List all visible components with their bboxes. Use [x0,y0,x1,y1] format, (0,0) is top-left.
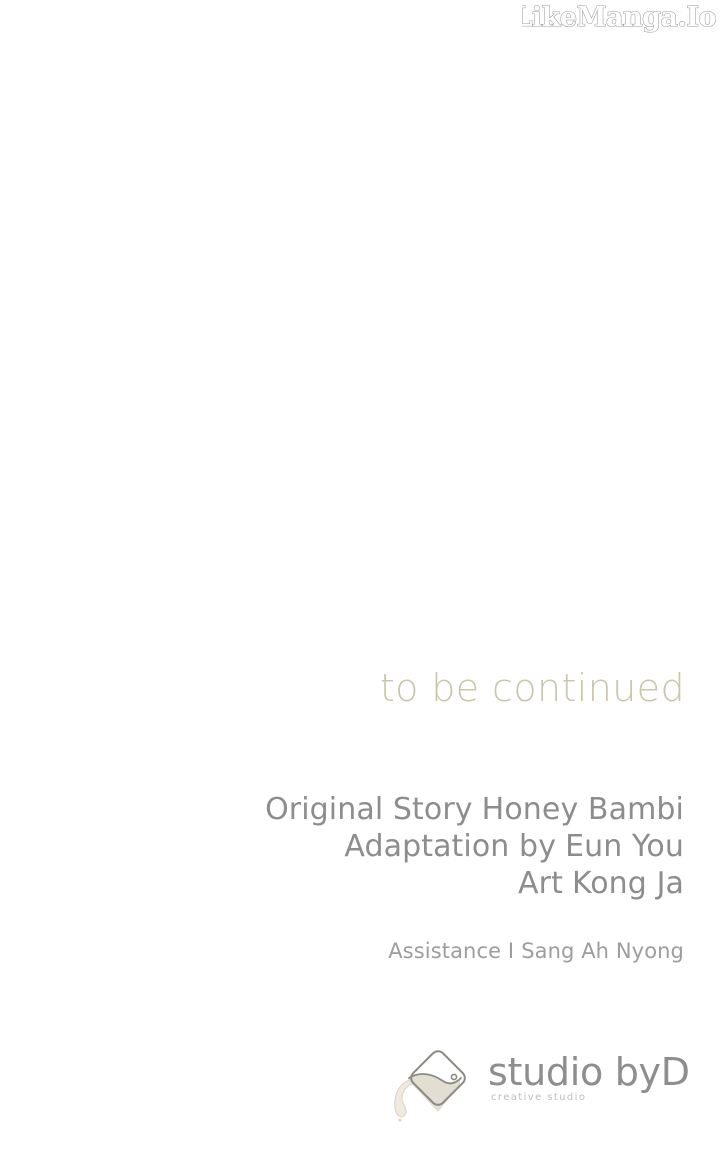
watermark-text: LikeManga.Io [522,2,716,33]
to-be-continued-block: to be continued [0,664,685,712]
studio-logo: studio byD creative studio [390,1032,690,1124]
studio-logo-type: studio byD creative studio [488,1052,690,1104]
credit-name: Kong Ja [572,866,684,901]
comic-end-page: LikeManga.Io to be continued Original St… [0,0,720,1152]
credit-line-art: ArtKong Ja [0,865,684,902]
credit-name: Honey Bambi [482,792,684,827]
credit-role: Original Story [265,792,473,827]
logo-drip-shape [395,1080,412,1117]
studio-name: studio byD [488,1052,690,1092]
logo-drip-dot [398,1118,401,1121]
watermark-logo-icon: LikeManga.Io [522,1,718,33]
credit-role: Adaptation by [344,829,556,864]
logo-circle-accent [451,1074,456,1079]
to-be-continued-text: to be continued [380,664,685,712]
credit-name: Eun You [565,829,684,864]
assistance-line: Assistance ISang Ah Nyong [388,938,684,965]
studio-tagline: creative studio [491,1091,690,1104]
credits-block: Original StoryHoney Bambi Adaptation byE… [0,791,684,902]
site-watermark: LikeManga.Io [522,1,718,33]
credit-line-adaptation: Adaptation byEun You [0,828,684,865]
assistance-block: Assistance ISang Ah Nyong [0,938,684,965]
assistance-names: Sang Ah Nyong [521,939,684,963]
assistance-role: Assistance I [388,939,514,963]
studio-logo-mark-icon [390,1032,486,1124]
credit-line-original-story: Original StoryHoney Bambi [0,791,684,828]
artwork-area [0,32,720,652]
credit-role: Art [518,866,563,901]
